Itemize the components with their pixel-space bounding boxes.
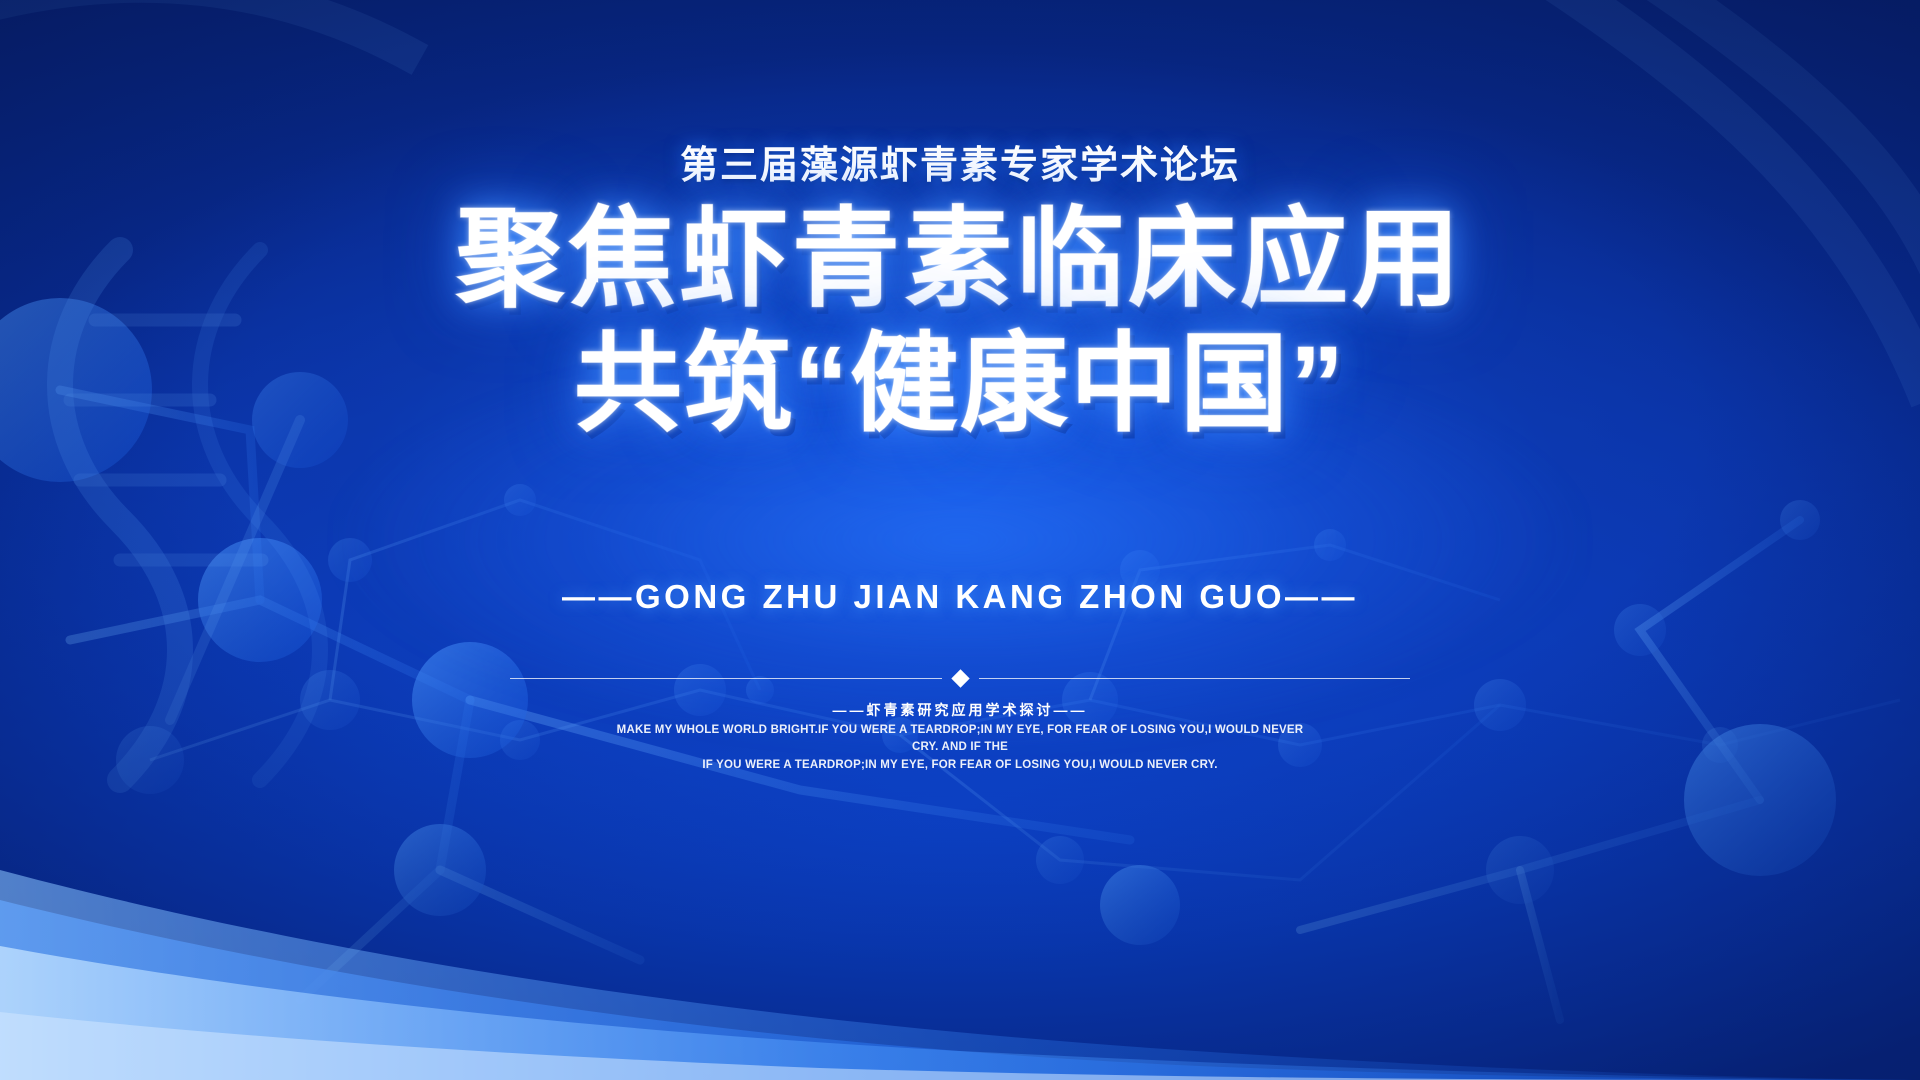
title-line-1: 聚焦虾青素临床应用 [0,196,1920,321]
english-blurb: MAKE MY WHOLE WORLD BRIGHT.IF YOU WERE A… [610,722,1310,774]
poster-canvas: 第三届藻源虾青素专家学术论坛 聚焦虾青素临床应用 共筑“健康中国” ——GONG… [0,0,1920,1080]
diamond-icon [951,669,969,687]
divider-rule-left [510,678,942,679]
blurb-line-2: IF YOU WERE A TEARDROP;IN MY EYE, FOR FE… [610,757,1310,774]
tagline: ——虾青素研究应用学术探讨—— [0,700,1920,720]
forum-subtitle: 第三届藻源虾青素专家学术论坛 [0,134,1920,189]
blurb-line-1: MAKE MY WHOLE WORLD BRIGHT.IF YOU WERE A… [610,722,1310,757]
main-title: 聚焦虾青素临床应用 共筑“健康中国” [0,196,1920,447]
divider [510,672,1410,685]
title-line-2: 共筑“健康中国” [0,321,1920,446]
poster-content: 第三届藻源虾青素专家学术论坛 聚焦虾青素临床应用 共筑“健康中国” ——GONG… [0,0,1920,1080]
pinyin-subtitle: ——GONG ZHU JIAN KANG ZHON GUO—— [0,578,1920,616]
divider-rule-right [979,678,1411,679]
